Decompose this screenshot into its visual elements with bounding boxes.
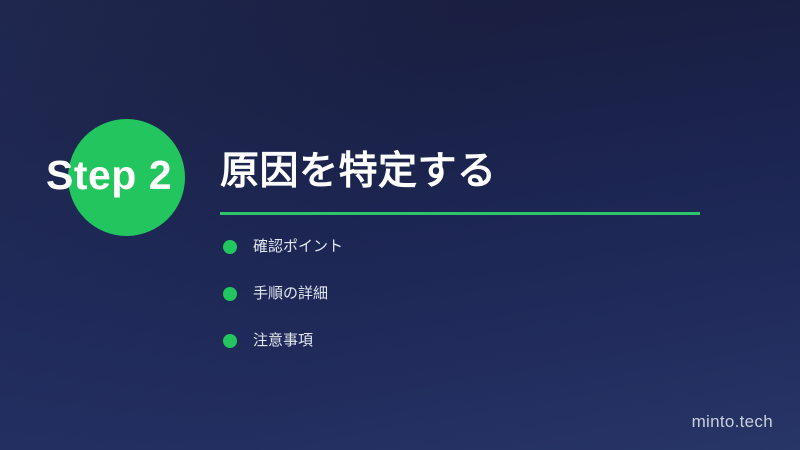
bullet-dot-icon bbox=[223, 287, 237, 301]
bullet-label: 確認ポイント bbox=[253, 239, 343, 254]
watermark: minto.tech bbox=[692, 412, 773, 432]
bullet-dot-icon bbox=[223, 334, 237, 348]
bullet-label: 手順の詳細 bbox=[253, 286, 328, 301]
presentation-slide: Step 2 原因を特定する 確認ポイント 手順の詳細 注意事項 minto.t… bbox=[0, 0, 800, 450]
bullet-list: 確認ポイント 手順の詳細 注意事項 bbox=[223, 239, 343, 348]
bullet-dot-icon bbox=[223, 240, 237, 254]
slide-content: Step 2 原因を特定する 確認ポイント 手順の詳細 注意事項 minto.t… bbox=[0, 0, 800, 450]
list-item: 手順の詳細 bbox=[223, 286, 343, 301]
slide-title: 原因を特定する bbox=[220, 148, 497, 196]
title-divider bbox=[220, 212, 700, 215]
list-item: 注意事項 bbox=[223, 333, 343, 348]
list-item: 確認ポイント bbox=[223, 239, 343, 254]
step-label: Step 2 bbox=[46, 152, 172, 198]
bullet-label: 注意事項 bbox=[253, 333, 313, 348]
